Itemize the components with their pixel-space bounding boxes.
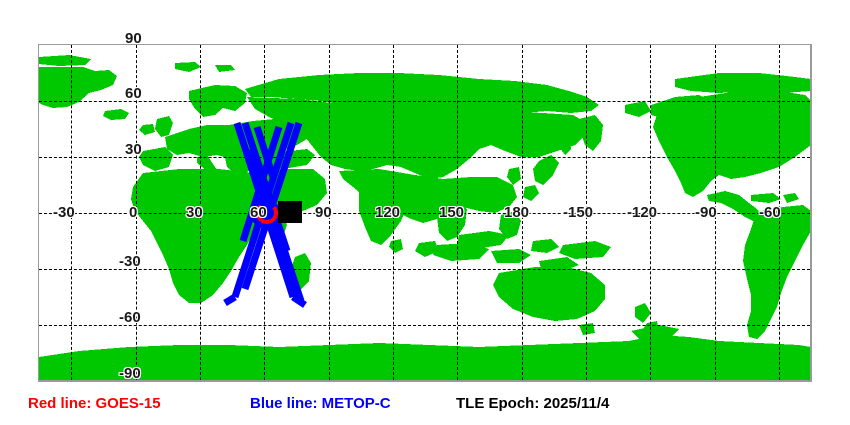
lon-tick--60: -60 <box>759 204 781 221</box>
lon-tick-0: 0 <box>129 204 137 221</box>
lon-tick-60: 60 <box>250 204 267 221</box>
legend: Red line: GOES-15 Blue line: METOP-C TLE… <box>0 393 850 421</box>
lat-tick--30: -30 <box>119 253 141 270</box>
lon-tick--90: -90 <box>695 204 717 221</box>
metop-track-10 <box>225 297 235 303</box>
satellite-ground-track-map: -30 0 30 60 90 120 150 180 -150 -120 -90… <box>0 0 850 425</box>
lat-tick-60: 60 <box>125 85 142 102</box>
lat-tick--90: -90 <box>119 365 141 382</box>
lon-tick-150: 150 <box>439 204 464 221</box>
lat-tick-90: 90 <box>125 30 142 47</box>
map-plot-area: -30 0 30 60 90 120 150 180 -150 -120 -90… <box>38 44 812 382</box>
legend-tle-epoch: TLE Epoch: 2025/11/4 <box>456 395 609 412</box>
lon-tick-30: 30 <box>186 204 203 221</box>
lon-tick--30: -30 <box>53 204 75 221</box>
lon-tick-90: 90 <box>315 204 332 221</box>
legend-red-line: Red line: GOES-15 <box>28 395 161 412</box>
lat-tick--60: -60 <box>119 309 141 326</box>
legend-blue-line: Blue line: METOP-C <box>250 395 391 412</box>
satellite-label-box <box>278 201 302 223</box>
lon-tick--120: -120 <box>627 204 657 221</box>
lat-tick-30: 30 <box>125 141 142 158</box>
lon-tick-120: 120 <box>375 204 400 221</box>
lon-tick-180: 180 <box>504 204 529 221</box>
lon-tick--150: -150 <box>563 204 593 221</box>
